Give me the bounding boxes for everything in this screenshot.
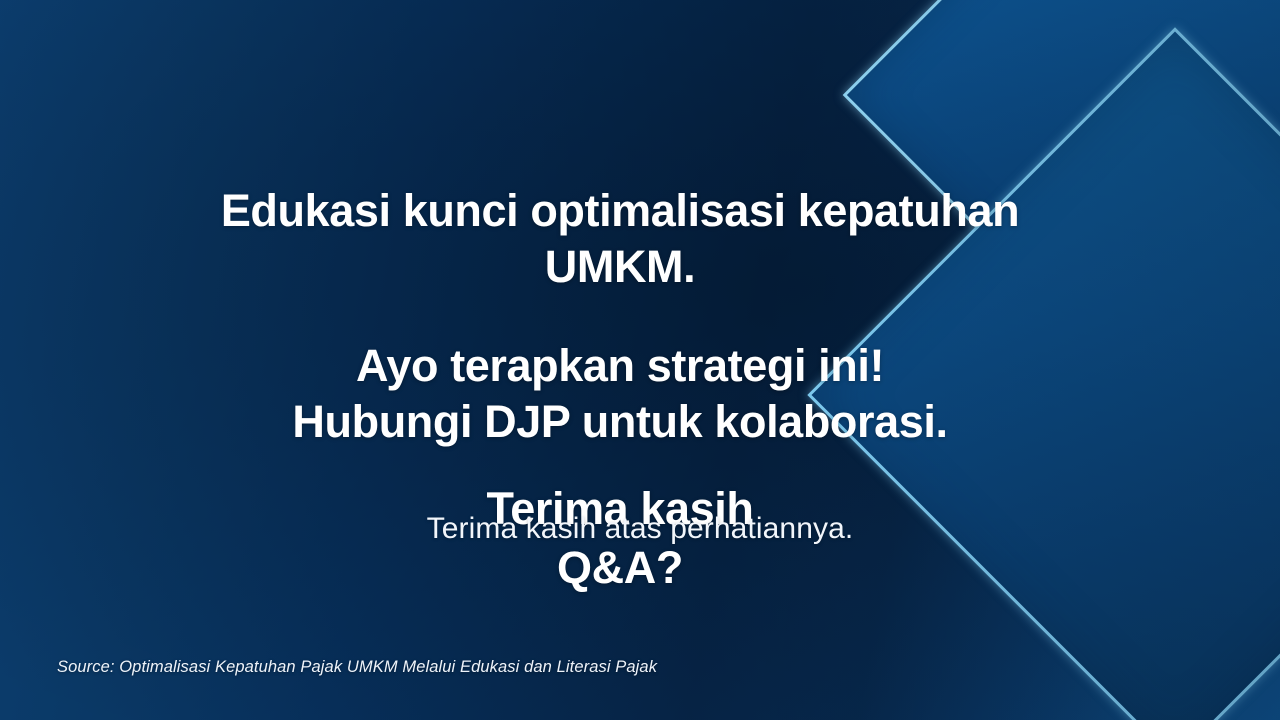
cta-line-2: Hubungi DJP untuk kolaborasi. <box>100 394 1140 450</box>
slide-content: Edukasi kunci optimalisasi kepatuhan UMK… <box>0 0 1280 720</box>
call-to-action: Ayo terapkan strategi ini! Hubungi DJP u… <box>100 338 1140 451</box>
source-citation: Source: Optimalisasi Kepatuhan Pajak UMK… <box>57 658 657 677</box>
overlapping-thanks-text: Terima kasih atas perhatiannya. <box>0 512 1280 547</box>
qa-text: Q&A? <box>100 538 1140 597</box>
headline-line-2: UMKM. <box>100 239 1140 295</box>
cta-line-1: Ayo terapkan strategi ini! <box>100 338 1140 394</box>
headline-line-1: Edukasi kunci optimalisasi kepatuhan <box>100 183 1140 239</box>
headline: Edukasi kunci optimalisasi kepatuhan UMK… <box>100 183 1140 296</box>
slide-canvas: Edukasi kunci optimalisasi kepatuhan UMK… <box>0 0 1280 720</box>
